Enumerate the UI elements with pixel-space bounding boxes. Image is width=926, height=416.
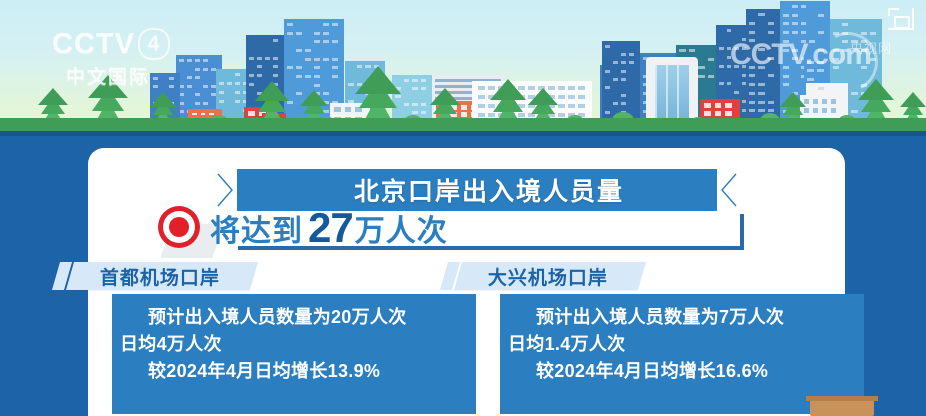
ground-strip bbox=[0, 118, 926, 131]
panel-header-label: 大兴机场口岸 bbox=[488, 263, 608, 290]
headline-subtitle: 将达到 27 万人次 bbox=[210, 206, 448, 250]
panel-line: 较2024年4月日均增长16.6% bbox=[508, 358, 856, 385]
chevron-right-icon bbox=[717, 170, 739, 210]
infographic-stage: CCTV 4 中文国际 央视网 CCTV.com 北京口岸出入境人员量 bbox=[0, 0, 926, 416]
chevron-left-icon bbox=[215, 170, 237, 210]
subtitle-prefix: 将达到 bbox=[210, 206, 303, 250]
title-banner: 北京口岸出入境人员量 bbox=[215, 169, 739, 211]
panel-body: 预计出入境人员数量为20万人次 日均4万人次 较2024年4月日均增长13.9% bbox=[112, 294, 476, 414]
panel-line: 日均4万人次 bbox=[120, 331, 468, 358]
subtitle-number: 27 bbox=[308, 207, 353, 249]
window-icon bbox=[888, 8, 914, 30]
water-horizon-line bbox=[0, 131, 926, 136]
panel-header: 首都机场口岸 bbox=[66, 262, 258, 290]
panel-line: 较2024年4月日均增长13.9% bbox=[120, 358, 468, 385]
panel-line: 日均1.4万人次 bbox=[508, 331, 856, 358]
panel-header-label: 首都机场口岸 bbox=[100, 263, 220, 290]
subtitle-suffix: 万人次 bbox=[355, 206, 448, 250]
panel-line: 预计出入境人员数量为20万人次 bbox=[120, 304, 468, 331]
city-skyline bbox=[0, 0, 926, 131]
bullseye-icon bbox=[158, 206, 200, 248]
tan-block-decoration bbox=[810, 396, 874, 416]
panel-header: 大兴机场口岸 bbox=[454, 262, 646, 290]
panel-line: 预计出入境人员数量为7万人次 bbox=[508, 304, 856, 331]
building bbox=[746, 9, 780, 131]
